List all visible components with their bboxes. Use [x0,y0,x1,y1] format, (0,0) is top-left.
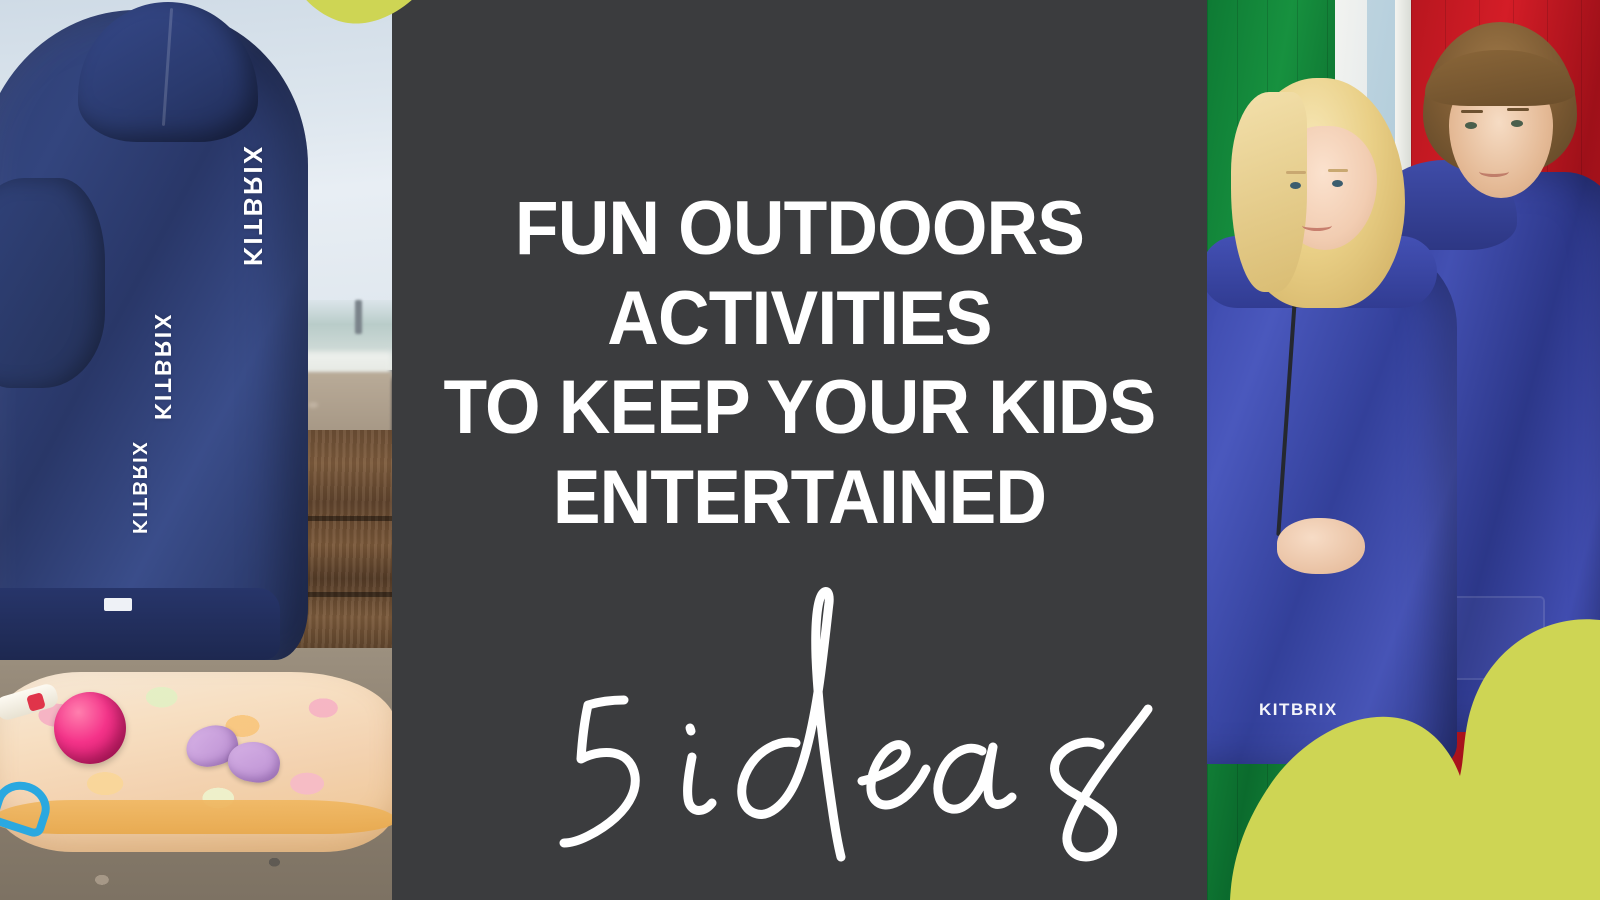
script-5-ideas [392,545,1207,875]
kitbrix-logo-text: KITBRIX [127,440,150,534]
robe-pocket [1445,596,1545,680]
girl-eyebrow [1286,171,1306,174]
boy-eye [1511,120,1523,127]
headline-line-4: ENTERTAINED [416,461,1182,535]
robe-sleeve [0,178,105,388]
girl-eye [1290,182,1301,189]
girl-hands [1277,518,1365,574]
kitbrix-logo-text: KITBRIX [1259,700,1338,720]
photo-left-beach-robe: KITBRIX KITBRIX KITBRIX [0,0,392,900]
boy-mouth [1479,166,1509,177]
girl-changing-robe [1207,244,1457,764]
photo-right-two-children: KITBRIX [1207,0,1600,900]
girl-eye [1332,180,1343,187]
girl-hair-front [1231,92,1307,292]
headline-line-3: TO KEEP YOUR KIDS [416,371,1182,445]
boy-eye [1465,122,1477,129]
pink-ball [54,692,126,764]
robe-hem [0,588,280,660]
headline-block: FUN OUTDOORS ACTIVITIES TO KEEP YOUR KID… [392,0,1207,535]
girl-eyebrow [1328,169,1348,172]
boy-eyebrow [1461,110,1483,113]
boy-eyebrow [1507,108,1529,111]
banner-canvas: KITBRIX KITBRIX KITBRIX [0,0,1600,900]
script-strokes [564,591,1148,857]
headline-line-2: ACTIVITIES [416,282,1182,356]
robe-label-tag [104,598,132,611]
kitbrix-logo-text: KITBRIX [149,312,176,420]
groyne-post [355,300,362,334]
towel-border-band [0,800,392,834]
girl-mouth [1302,220,1332,231]
kitbrix-logo-text: KITBRIX [237,144,268,266]
headline-line-1: FUN OUTDOORS [416,192,1182,266]
